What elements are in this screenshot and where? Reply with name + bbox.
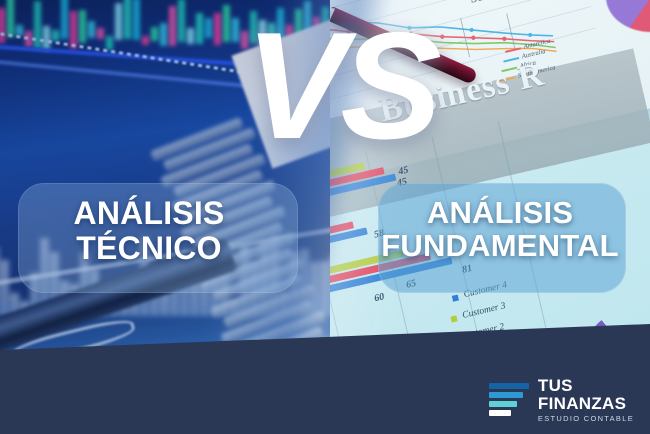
right-label-line1: ANÁLISIS [350, 196, 650, 229]
bar-legend-customer-3: Customer 3 [461, 301, 506, 321]
bars-icon-bar-2 [489, 392, 523, 398]
left-label-text: ANÁLISIS TÉCNICO [14, 196, 284, 265]
brand-wordmark: TUS FINANZAS ESTUDIO CONTABLE [538, 377, 634, 423]
right-label-line2: FUNDAMENTAL [350, 229, 650, 262]
bar-legend-swatch-customer-3 [450, 315, 457, 322]
vs-label: VS [245, 6, 405, 176]
left-label-line2: TÉCNICO [14, 231, 284, 266]
bar-value: 60 [373, 291, 385, 304]
right-label-text: ANÁLISIS FUNDAMENTAL [350, 196, 650, 263]
bars-icon-bar-4 [489, 410, 511, 416]
bars-icon-bar-1 [489, 383, 529, 389]
bars-icon [489, 383, 529, 416]
left-label-line1: ANÁLISIS [14, 196, 284, 231]
brand-line-1: TUS [538, 377, 634, 394]
brand-logo[interactable]: TUS FINANZAS ESTUDIO CONTABLE [489, 377, 634, 423]
brand-tagline: ESTUDIO CONTABLE [538, 415, 634, 423]
brand-line-2: FINANZAS [538, 395, 634, 412]
bars-icon-bar-3 [489, 401, 517, 407]
promo-graphic: Antarctica Australia Africa South Americ… [0, 0, 650, 434]
bar-legend-swatch-customer-4 [452, 295, 459, 302]
